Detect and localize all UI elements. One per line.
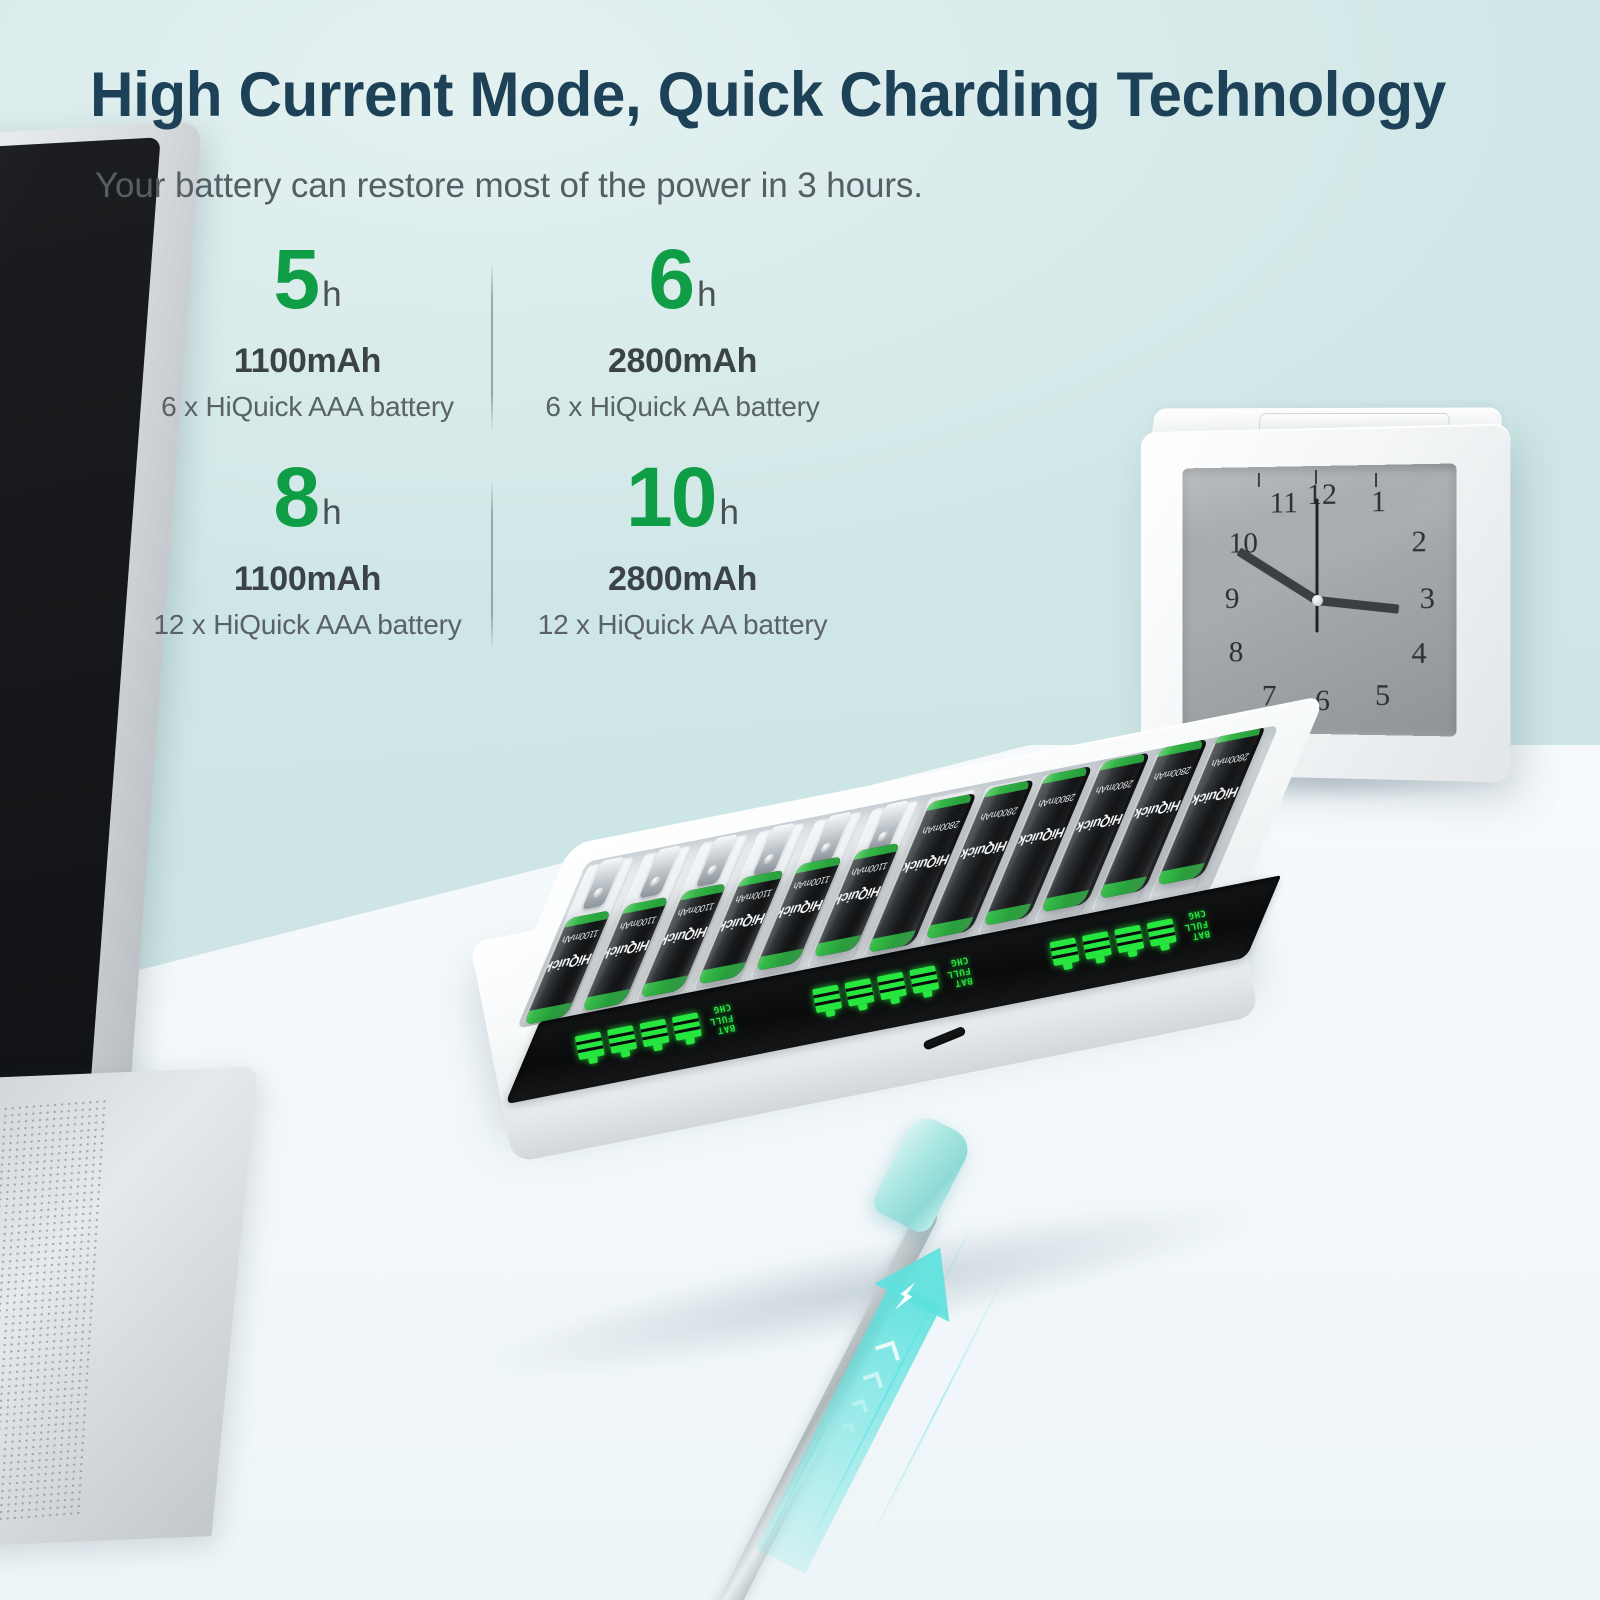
clock-numeral-9: 9: [1225, 584, 1240, 614]
stat-hours-unit: h: [719, 495, 738, 530]
charge-time-grid: 5 h 1100mAh 6 x HiQuick AAA battery 6 h …: [120, 240, 880, 676]
stat-description: 6 x HiQuick AAA battery: [120, 391, 495, 423]
lcd-status-labels: BAT FULL CHG: [1181, 907, 1211, 941]
battery-level-icon: [843, 973, 875, 1011]
usb-c-connector: [869, 1111, 975, 1236]
clock-numeral-12: 12: [1307, 480, 1337, 510]
battery-level-icon: [1113, 920, 1145, 958]
battery-level-icon: [908, 960, 940, 998]
stat-hours-unit: h: [322, 277, 341, 312]
column-divider: [491, 480, 493, 650]
stat-capacity: 2800mAh: [495, 560, 870, 599]
clock-numeral-3: 3: [1420, 584, 1435, 614]
clock-numeral-5: 5: [1375, 681, 1390, 711]
battery-level-icon: [876, 967, 908, 1005]
clock-tick: [1258, 473, 1260, 487]
stat-hours-value: 10: [626, 458, 715, 538]
marketing-image-canvas: delete enter return shift High Current M…: [0, 0, 1600, 1600]
stat-capacity: 1100mAh: [120, 560, 495, 599]
lcd-status-labels: BAT FULL CHG: [706, 1001, 736, 1035]
stat-row-top: 5 h 1100mAh 6 x HiQuick AAA battery 6 h …: [120, 240, 880, 458]
clock-numeral-2: 2: [1412, 527, 1427, 558]
stat-card-aa-12: 10 h 2800mAh 12 x HiQuick AA battery: [495, 458, 870, 676]
battery-level-icon: [1081, 926, 1113, 964]
laptop-base: [0, 1067, 258, 1560]
battery-level-icon: [811, 980, 843, 1018]
stat-hours-value: 8: [273, 458, 318, 538]
stat-hours-value: 6: [648, 240, 693, 320]
clock-center-pin: [1312, 594, 1323, 605]
clock-numeral-4: 4: [1412, 638, 1427, 669]
stat-time: 6 h: [495, 240, 870, 336]
stat-description: 12 x HiQuick AAA battery: [120, 609, 495, 641]
stat-card-aa-6: 6 h 2800mAh 6 x HiQuick AA battery: [495, 240, 870, 458]
clock-second-hand: [1316, 498, 1319, 602]
stat-hours-value: 5: [273, 240, 318, 320]
page-subtitle: Your battery can restore most of the pow…: [95, 166, 923, 206]
stat-time: 5 h: [120, 240, 495, 336]
stat-hours-unit: h: [697, 277, 716, 312]
stat-time: 8 h: [120, 458, 495, 554]
battery-level-icon: [1146, 913, 1178, 951]
lcd-status-labels: BAT FULL CHG: [944, 954, 974, 988]
clock-numeral-8: 8: [1229, 638, 1244, 668]
stat-time: 10 h: [495, 458, 870, 554]
stat-description: 6 x HiQuick AA battery: [495, 391, 870, 423]
battery-level-icon: [1048, 933, 1080, 971]
stat-capacity: 1100mAh: [120, 342, 495, 381]
clock-numeral-1: 1: [1371, 487, 1386, 517]
usb-c-cable: [880, 1120, 1600, 1600]
stat-description: 12 x HiQuick AA battery: [495, 609, 870, 641]
battery-level-icon: [574, 1027, 606, 1065]
clock-numeral-11: 11: [1270, 488, 1298, 518]
page-title: High Current Mode, Quick Charding Techno…: [90, 62, 1446, 128]
stat-hours-unit: h: [322, 495, 341, 530]
stat-card-aaa-6: 5 h 1100mAh 6 x HiQuick AAA battery: [120, 240, 495, 458]
stat-capacity: 2800mAh: [495, 342, 870, 381]
battery-level-icon: [638, 1014, 670, 1052]
stat-card-aaa-12: 8 h 1100mAh 12 x HiQuick AAA battery: [120, 458, 495, 676]
battery-level-icon: [606, 1020, 638, 1058]
stat-row-bottom: 8 h 1100mAh 12 x HiQuick AAA battery 10 …: [120, 458, 880, 676]
battery-level-icon: [671, 1007, 703, 1045]
column-divider: [491, 262, 493, 432]
